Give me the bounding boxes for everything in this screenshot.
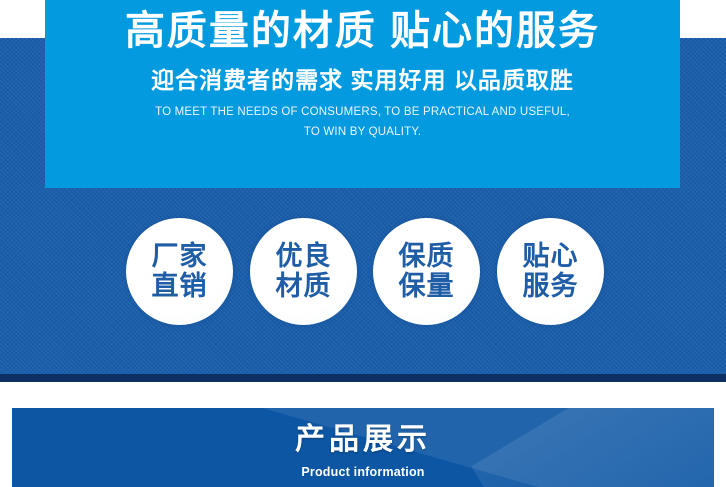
hero-subtitle-chinese: 迎合消费者的需求 实用好用 以品质取胜: [45, 65, 680, 96]
promo-banner-page: 高质量的材质 贴心的服务 迎合消费者的需求 实用好用 以品质取胜 TO MEET…: [0, 0, 726, 487]
feature-circle-4-line-2: 服务: [523, 272, 579, 301]
feature-circles-row: 厂家 直销 优良 材质 保质 保量 贴心 服务: [0, 218, 726, 328]
hero-subtitle-english: TO MEET THE NEEDS OF CONSUMERS, TO BE PR…: [83, 103, 643, 142]
hero-headline-panel: 高质量的材质 贴心的服务 迎合消费者的需求 实用好用 以品质取胜 TO MEET…: [45, 0, 680, 188]
feature-circle-1[interactable]: 厂家 直销: [126, 218, 233, 325]
texture-bottom-rule: [0, 374, 726, 382]
feature-circle-2[interactable]: 优良 材质: [250, 218, 357, 325]
feature-circle-1-line-2: 直销: [152, 272, 208, 301]
feature-circle-2-line-2: 材质: [276, 272, 332, 301]
feature-circle-1-line-1: 厂家: [152, 242, 208, 271]
section-subtitle: Product information: [12, 465, 714, 479]
product-section-banner: 产品展示 Product information: [12, 408, 714, 487]
hero-subtitle-english-line-2: TO WIN BY QUALITY.: [83, 123, 643, 143]
feature-circle-3[interactable]: 保质 保量: [373, 218, 480, 325]
feature-circle-3-line-1: 保质: [399, 242, 455, 271]
feature-circle-4[interactable]: 贴心 服务: [497, 218, 604, 325]
feature-circle-2-line-1: 优良: [276, 242, 332, 271]
hero-title: 高质量的材质 贴心的服务: [45, 6, 680, 57]
top-right-white-notch: [680, 0, 726, 38]
feature-circle-3-line-2: 保量: [399, 272, 455, 301]
hero-subtitle-english-line-1: TO MEET THE NEEDS OF CONSUMERS, TO BE PR…: [83, 103, 643, 123]
section-title: 产品展示: [12, 408, 714, 455]
top-left-white-notch: [0, 0, 45, 38]
feature-circle-4-line-1: 贴心: [523, 242, 579, 271]
